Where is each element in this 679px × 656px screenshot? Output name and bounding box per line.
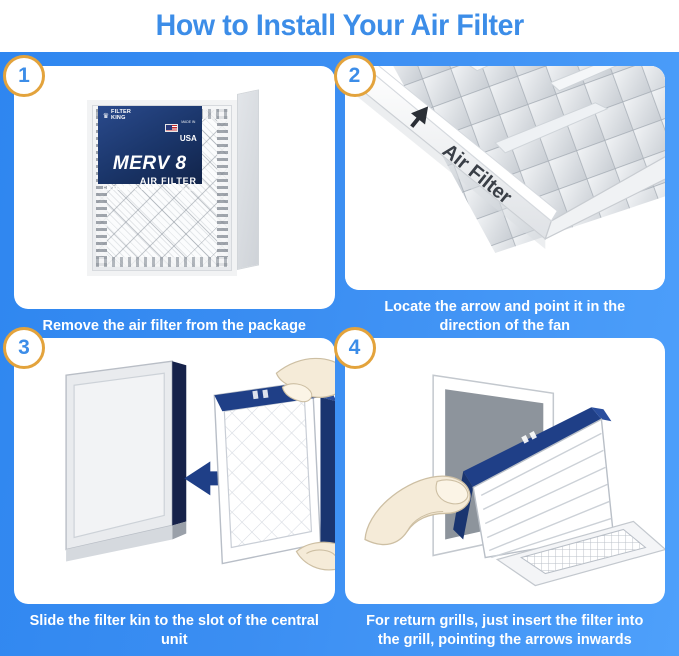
step-3-caption: Slide the filter kin to the slot of the … [14,604,335,650]
made-in-usa-badge: MADE IN USA [165,110,197,146]
step-4-image [345,338,666,604]
step-1: 1 ♛ [14,66,335,336]
air-filter-product-photo: ♛ FILTER KING MADE IN USA [87,94,262,280]
filter-product-label: ♛ FILTER KING MADE IN USA [98,106,202,184]
slide-filter-illustration [14,338,335,604]
step-2-caption: Locate the arrow and point it in the dir… [345,290,666,336]
step-3: 3 [14,338,335,650]
filter-king-logo: ♛ FILTER KING [103,110,131,122]
usa-text: USA [180,134,197,143]
step-1-number-badge: 1 [3,55,45,97]
air-filter-text: AIR FILTER [103,176,197,186]
step-4-number-badge: 4 [334,327,376,369]
label-bottom-row: FILTERKING.COM APR 650 [103,186,197,192]
step-3-image [14,338,335,604]
filter-corner-photo: Air Filter [345,66,666,290]
brand-name-line2: KING [111,115,126,121]
step-2-image: Air Filter [345,66,666,290]
label-top-row: ♛ FILTER KING MADE IN USA [103,110,197,146]
step-3-number-badge: 3 [3,327,45,369]
filter-bottom-rail [96,257,228,267]
step-4-card: 4 [345,338,666,604]
page-title: How to Install Your Air Filter [155,9,523,43]
step-3-card: 3 [14,338,335,604]
website-text: FILTERKING.COM [103,186,155,192]
usa-flag-icon [165,124,178,132]
made-in-text: MADE IN [181,120,195,124]
return-grill-illustration [345,338,666,604]
crown-icon: ♛ [103,113,109,120]
central-unit-housing [66,361,186,561]
apr-rating-text: APR 650 [178,187,197,192]
step-1-card: 1 ♛ [14,66,335,309]
filter-right-rail [217,109,228,267]
steps-grid: 1 ♛ [0,52,679,656]
step-4-caption: For return grills, just insert the filte… [345,604,666,650]
merv-rating-text: MERV 8 [103,153,197,175]
filter-side-depth [237,90,259,271]
step-4: 4 [345,338,666,650]
step-1-caption: Remove the air filter from the package [14,309,335,336]
step-1-image: ♛ FILTER KING MADE IN USA [14,66,335,309]
page-header: How to Install Your Air Filter [0,0,679,52]
step-2-number-badge: 2 [334,55,376,97]
step-2-card: 2 [345,66,666,290]
step-2: 2 [345,66,666,336]
